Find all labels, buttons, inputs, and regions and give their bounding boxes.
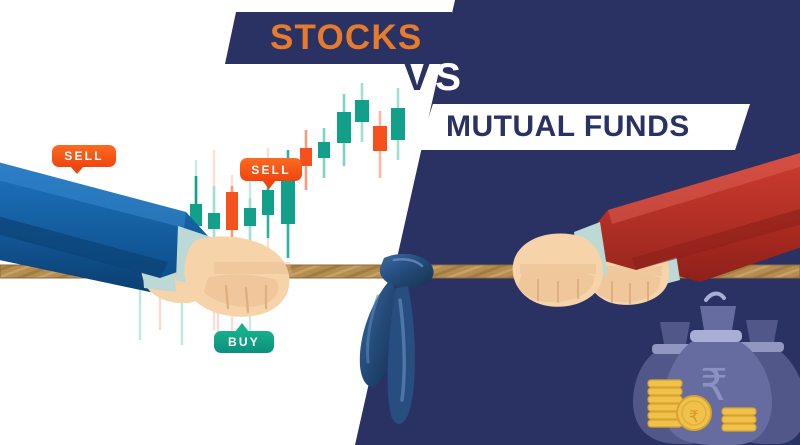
stocks-title: STOCKS xyxy=(236,18,422,58)
buy-badge-label: BUY xyxy=(228,335,260,349)
versus-letter-s: S xyxy=(435,56,461,100)
sell-badge-left-pointer xyxy=(70,166,84,174)
sell-badge-center: SELL xyxy=(240,158,302,181)
sell-badge-left: SELL xyxy=(52,145,116,167)
mutual-funds-banner: MUTUAL FUNDS xyxy=(418,104,750,150)
buy-badge: BUY xyxy=(214,331,274,353)
infographic-canvas: ₹ ₹ ₹ ₹ xyxy=(0,0,800,445)
coin-stack-right xyxy=(722,408,756,431)
sell-badge-left-label: SELL xyxy=(64,149,103,163)
versus-letter-v: V xyxy=(404,56,430,100)
sell-badge-center-pointer xyxy=(262,180,276,189)
money-bags-group: ₹ ₹ ₹ ₹ xyxy=(0,0,800,445)
mutual-funds-title: MUTUAL FUNDS xyxy=(418,104,690,150)
versus-label: V S xyxy=(404,56,486,102)
coin-rupee: ₹ xyxy=(689,409,699,426)
sell-badge-center-label: SELL xyxy=(251,163,290,177)
coin-face: ₹ xyxy=(677,396,711,430)
coin-stack-left xyxy=(648,380,682,427)
buy-badge-pointer xyxy=(235,323,249,332)
